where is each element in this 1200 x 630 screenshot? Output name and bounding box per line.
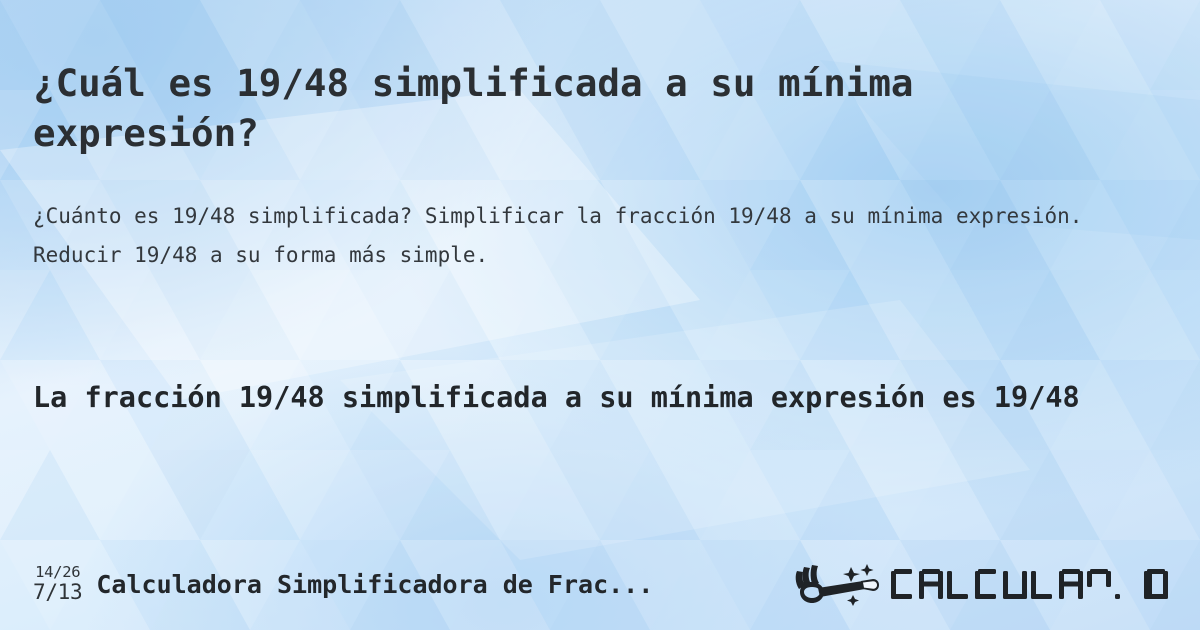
page-title: ¿Cuál es 19/48 simplificada a su mínima … xyxy=(33,58,1033,158)
page-description: ¿Cuánto es 19/48 simplificada? Simplific… xyxy=(33,197,1138,275)
badge-denominator-fraction: 7/13 xyxy=(33,582,82,603)
site-section-title: Calculadora Simplificadora de Frac... xyxy=(96,570,653,599)
fraction-reduce-badge-icon: 14/26 7/13 xyxy=(33,565,82,603)
og-image-canvas: ¿Cuál es 19/48 simplificada a su mínima … xyxy=(0,0,1200,630)
footer-bar: 14/26 7/13 Calculadora Simplificadora de… xyxy=(0,538,1200,630)
content-layer: ¿Cuál es 19/48 simplificada a su mínima … xyxy=(0,0,1200,630)
calculatio-logo[interactable] xyxy=(791,561,1178,607)
badge-numerator-fraction: 14/26 xyxy=(35,565,80,581)
calculatio-logo-graphic xyxy=(791,561,1178,607)
magic-wand-hand-icon xyxy=(796,564,879,606)
calculatio-logo-text xyxy=(891,569,1168,599)
answer-statement: La fracción 19/48 simplificada a su míni… xyxy=(33,374,1093,422)
